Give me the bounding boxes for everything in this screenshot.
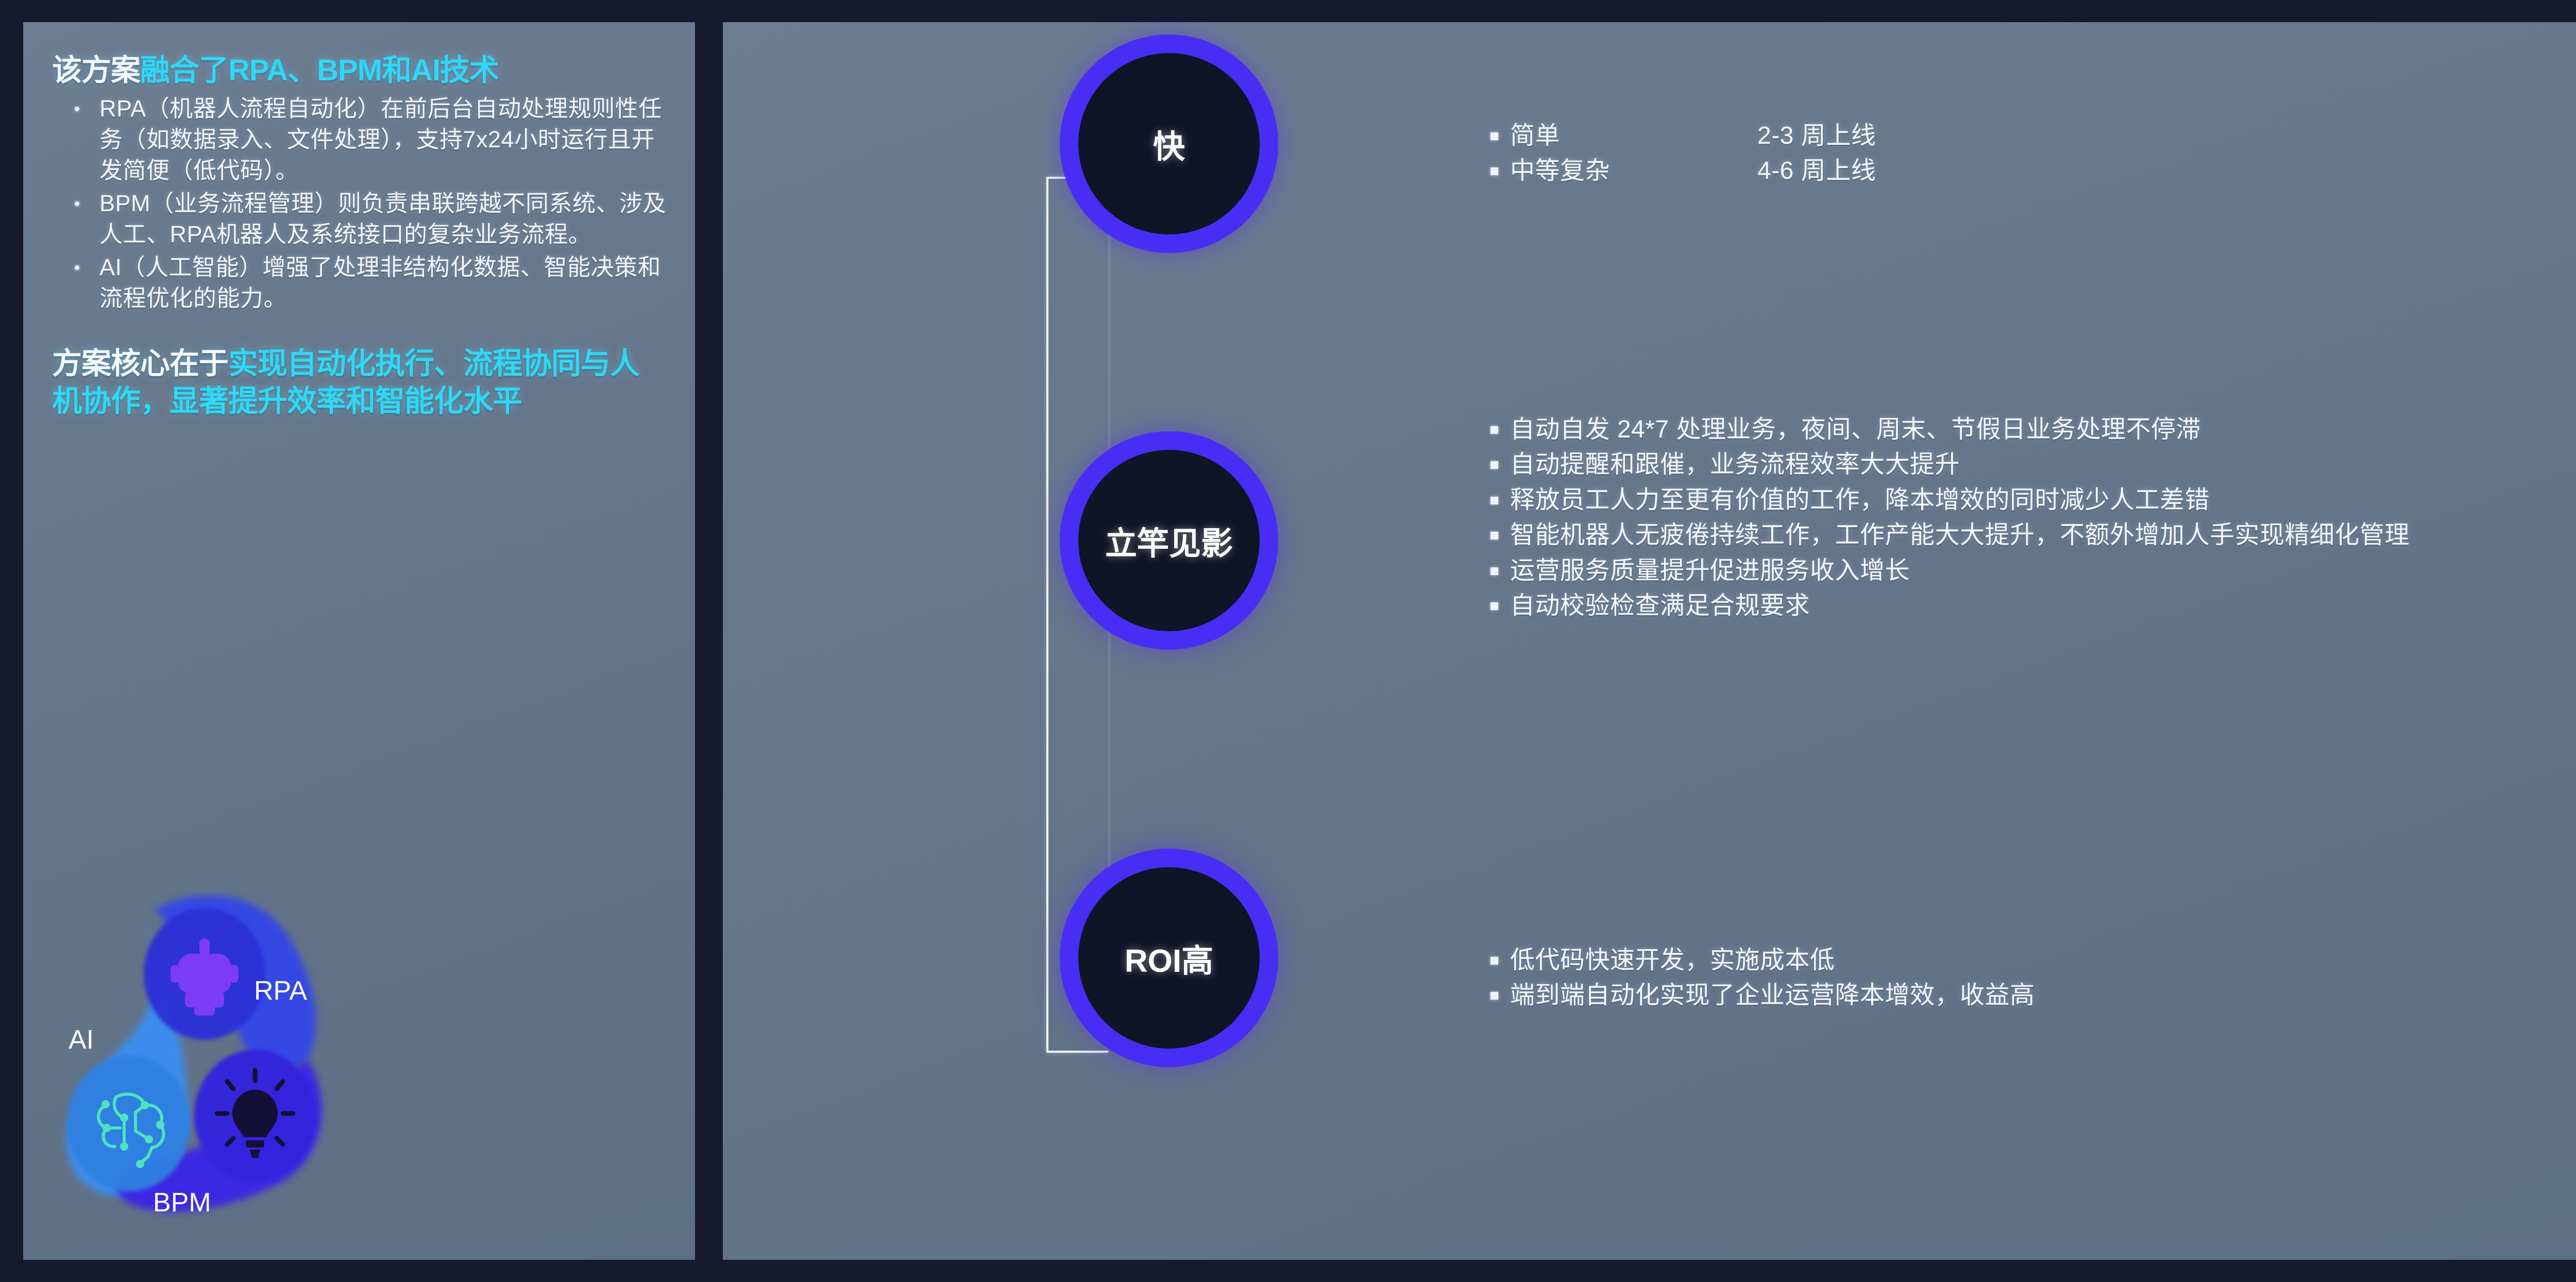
list-item: 自动提醒和跟催，业务流程效率大大提升 bbox=[1480, 449, 2410, 481]
left-heading-secondary: 方案核心在于实现自动化执行、流程协同与人机协作，显著提升效率和智能化水平 bbox=[52, 345, 668, 420]
slide-root: 该方案融合了RPA、BPM和AI技术 RPA（机器人流程自动化）在前后台自动处理… bbox=[0, 0, 2576, 1282]
left-panel: 该方案融合了RPA、BPM和AI技术 RPA（机器人流程自动化）在前后台自动处理… bbox=[19, 18, 700, 1264]
list-item: 自动校验检查满足合规要求 bbox=[1480, 590, 2410, 622]
list-item: RPA（机器人流程自动化）在前后台自动处理规则性任务（如数据录入、文件处理），支… bbox=[52, 93, 668, 186]
ai-rpa-bpm-diagram: AI RPA BPM bbox=[39, 889, 368, 1250]
fast-row-1-value: 4-6 周上线 bbox=[1757, 155, 1876, 187]
fast-row-0-value: 2-3 周上线 bbox=[1757, 120, 1876, 152]
right-panel: 快 简单 2-3 周上线 中等复杂 4-6 周上线 bbox=[718, 18, 2576, 1264]
left-bullet-list: RPA（机器人流程自动化）在前后台自动处理规则性任务（如数据录入、文件处理），支… bbox=[52, 93, 668, 313]
group-fast-content: 简单 2-3 周上线 中等复杂 4-6 周上线 bbox=[1480, 120, 1876, 191]
list-item: 简单 2-3 周上线 bbox=[1480, 120, 1876, 152]
right-panel-content: 快 简单 2-3 周上线 中等复杂 4-6 周上线 bbox=[723, 22, 2576, 1260]
ai-disc bbox=[67, 1055, 191, 1191]
left-heading-primary-white: 该方案 bbox=[52, 54, 140, 87]
list-item: BPM（业务流程管理）则负责串联跨越不同系统、涉及人工、RPA机器人及系统接口的… bbox=[52, 188, 668, 250]
node-immediate-effect[interactable]: 立竿见影 bbox=[1078, 450, 1260, 631]
group-effect-content: 自动自发 24*7 处理业务，夜间、周末、节假日业务处理不停滞 自动提醒和跟催，… bbox=[1480, 414, 2410, 625]
node-roi[interactable]: ROI高 bbox=[1078, 867, 1260, 1049]
fast-row-1-key: 中等复杂 bbox=[1510, 155, 1757, 187]
list-item: AI（人工智能）增强了处理非结构化数据、智能决策和流程优化的能力。 bbox=[52, 252, 668, 314]
node-fast[interactable]: 快 bbox=[1078, 53, 1260, 234]
group-roi-content: 低代码快速开发，实施成本低 端到端自动化实现了企业运营降本增效，收益高 bbox=[1480, 944, 2035, 1015]
list-item: 释放员工人力至更有价值的工作，降本增效的同时减少人工差错 bbox=[1480, 484, 2410, 516]
node-fast-label: 快 bbox=[1153, 121, 1185, 167]
list-item: 运营服务质量提升促进服务收入增长 bbox=[1480, 555, 2410, 587]
roi-list: 低代码快速开发，实施成本低 端到端自动化实现了企业运营降本增效，收益高 bbox=[1480, 944, 2035, 1012]
left-heading-primary: 该方案融合了RPA、BPM和AI技术 bbox=[52, 53, 668, 88]
fast-row-0-key: 简单 bbox=[1510, 120, 1757, 152]
left-heading-secondary-white: 方案核心在于 bbox=[52, 347, 228, 380]
list-item: 智能机器人无疲倦持续工作，工作产能大大提升，不额外增加人手实现精细化管理 bbox=[1480, 519, 2410, 551]
list-item: 端到端自动化实现了企业运营降本增效，收益高 bbox=[1480, 980, 2035, 1011]
left-heading-primary-cyan: 融合了RPA、BPM和AI技术 bbox=[140, 54, 499, 87]
left-panel-content: 该方案融合了RPA、BPM和AI技术 RPA（机器人流程自动化）在前后台自动处理… bbox=[23, 22, 695, 1260]
ai-label: AI bbox=[69, 1025, 94, 1055]
list-item: 低代码快速开发，实施成本低 bbox=[1480, 944, 2035, 976]
list-item: 自动自发 24*7 处理业务，夜间、周末、节假日业务处理不停滞 bbox=[1480, 414, 2410, 446]
effect-list: 自动自发 24*7 处理业务，夜间、周末、节假日业务处理不停滞 自动提醒和跟催，… bbox=[1480, 414, 2410, 622]
node-roi-label: ROI高 bbox=[1125, 935, 1213, 981]
node-immediate-effect-label: 立竿见影 bbox=[1105, 517, 1233, 564]
list-item: 中等复杂 4-6 周上线 bbox=[1480, 155, 1876, 187]
rpa-label: RPA bbox=[254, 976, 307, 1006]
bpm-label: BPM bbox=[153, 1188, 211, 1218]
fast-list: 简单 2-3 周上线 中等复杂 4-6 周上线 bbox=[1480, 120, 1876, 188]
